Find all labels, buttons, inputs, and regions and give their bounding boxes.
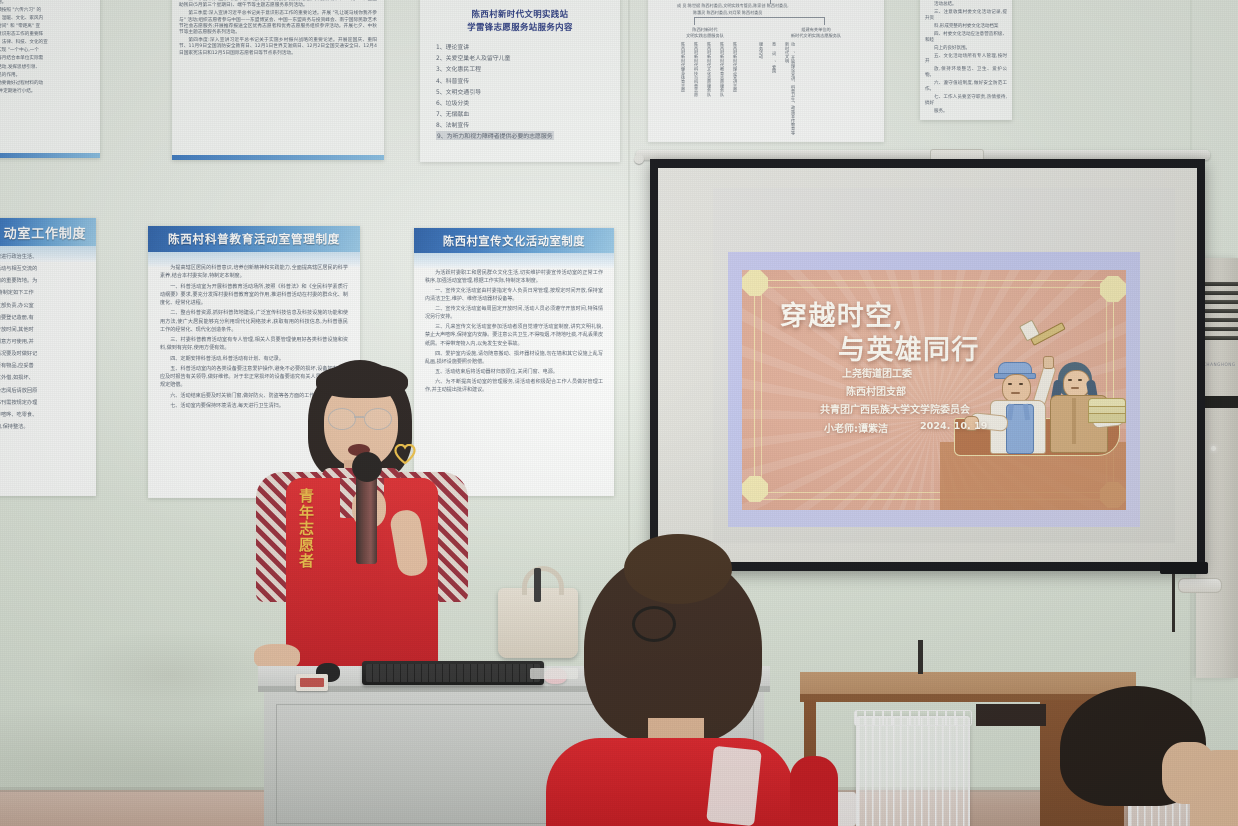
poster-line: 七、工作人员要坚守职责,热情接待,搞好 (925, 95, 1007, 107)
poster-regulations-right: 成 员:陈西村各委员活动总结。三、注意收集村委文化活动记录,提升资料,形成完整的… (920, 0, 1012, 120)
corner-ornament-tl (742, 270, 768, 296)
poster-paragraph: 二、整合科普资源,抓好科普阵地建设,广泛宣传科技信息及科技设施的功能和使用方法,… (160, 309, 348, 334)
poster-line: 须按照 "六传六习" 的 (0, 8, 94, 14)
poster-paragraph: 三、村委科普教育活动室有专人管理,相关人员要管理使用好各类科普设施和资料,做到有… (160, 336, 348, 353)
poster-line: 得随意外借,如损坏、 (0, 373, 89, 383)
table-pole (918, 640, 923, 674)
poster-line: 五、文化活动场所有专人管理,按时开 (925, 54, 1007, 66)
service-item: 6、垃圾分类 (436, 98, 620, 107)
service-item: 4、科普宣传 (436, 76, 620, 85)
org-column: 陈西村新时代科技与科普志愿 (693, 42, 699, 138)
ac-brand-label: CHANGHONG (1203, 362, 1236, 367)
org-branch-right-l2: 新时代文明实践志愿服务队 (772, 33, 860, 39)
screen-support-rod (1172, 574, 1175, 632)
wall-vent (1178, 578, 1222, 593)
hair-clip (632, 606, 676, 642)
vest-text: 青年志愿者 (296, 488, 317, 636)
poster-line: 向上的良好氛围。 (925, 46, 1007, 52)
poster-line: 每月结合本单位实际需 (0, 56, 94, 62)
poster-line: 德。 (0, 0, 94, 6)
org-connector (694, 17, 695, 25)
org-left-columns: 陈西村新时代健身体育志愿陈西村新时代科技与科普志愿陈西村新时代文化志愿服务队陈西… (680, 42, 738, 138)
audience-collar (706, 746, 762, 826)
poster-paragraph: 二、宣传文化活动室每周固定开放时间,活动人员必须遵守开放时间,特殊情况另行安排。 (425, 305, 603, 321)
service-item: 3、文化惠民工程 (436, 64, 620, 73)
corner-ornament-bl (742, 476, 768, 502)
poster-top-left-text: 德。须按照 "六传六习" 的、温暖、文化、家风内时间" 和 "零距离" 宣意识形… (0, 0, 100, 97)
illustration-woman (1050, 362, 1126, 458)
org-column: 服务活动 (758, 42, 764, 138)
cage-top-grid (854, 710, 972, 726)
service-item-highlighted: 9、为听力和视力障碍者提供必要的志愿服务 (436, 131, 554, 140)
org-right-columns: 服务活动育 词 、爱国动 、开展理论宣讲、科普卫生、政策宣传教育等新时代文明 (758, 42, 796, 138)
slide-subtitle-teacher: 小老师:谭紫洁 (824, 420, 888, 435)
poster-line: 备的所有物品,应妥善 (0, 361, 89, 371)
audience-hair-bun (624, 534, 732, 604)
poster-service-items: 1、理论宣讲2、关爱空巢老人及留守儿童3、文化惠民工程4、科普宣传5、文明交通引… (436, 42, 620, 140)
org-members-line1: 成 员:陈世斌 陈西村委员,文明实践专管员,陈家创 陈西村委员, (677, 3, 789, 9)
poster-line: 理打扫,保持整洁。 (0, 422, 89, 432)
poster-line: 民的作用。 (0, 73, 94, 79)
poster-paragraph: 三、凡来宣传文化活动室参加活动者须自觉遵守活动室制度,讲究文明礼貌,禁止大声喧哗… (425, 323, 603, 347)
card-packet[interactable] (296, 674, 328, 691)
service-item: 1、理论宣讲 (436, 42, 620, 51)
org-column: 陈西村新时代文化志愿服务队 (706, 42, 712, 138)
audience-arm-right (1190, 750, 1238, 826)
roller-knob (634, 154, 644, 164)
poster-line: 放,保持环境整洁、卫生、爱护公物。 (925, 67, 1007, 79)
heart-icon (394, 444, 414, 462)
poster-line: 六、遵守值班制度,做好安全防范工作。 (925, 81, 1007, 93)
glasses-lens-left (328, 408, 356, 430)
slide-subtitle-3: 共青团广西民族大学文学院委员会 (820, 401, 970, 416)
poster-line: 借用书刊需按规定办理 (0, 398, 89, 408)
poster-line: 管理,特制定如下工作 (0, 288, 89, 298)
book-bottom (1088, 413, 1126, 423)
poster-paragraph: 第二季度:深入宣讲习近平总书记关于学习党史的重要论述。开展清明节、"三月三"、全… (179, 0, 377, 9)
poster-line: 切设施要登记造册,有 (0, 313, 89, 323)
service-item: 9、为听力和视力障碍者提供必要的志愿服务 (436, 131, 620, 140)
poster-line: 活动,发挥思想引领、 (0, 65, 94, 71)
poster-work-system-text: 层组织进行政治生活、教育活动与相互交流的范作用的重要阵地。为管理,特制定如下工作… (0, 246, 96, 440)
keyboard[interactable] (362, 661, 544, 685)
presenter-bangs (316, 364, 408, 398)
glasses-bridge (354, 416, 364, 418)
poster-line: 使用情况要及时做好记 (0, 349, 89, 359)
poster-line: 禁大声喧哗、吃零食、 (0, 410, 89, 420)
poster-line: 教育活动与相互交流的 (0, 264, 89, 274)
poster-line: 范作用的重要阵地。为 (0, 276, 89, 286)
poster-paragraph: 一、科普活动室为开展科普教育活动场所,按照《科普法》和《全民科学素质行动纲要》要… (160, 283, 348, 308)
poster-line: 层组织进行政治生活、 (0, 252, 89, 262)
microphone[interactable] (356, 472, 377, 564)
photo-scene: 德。须按照 "六传六习" 的、温暖、文化、家风内时间" 和 "零距离" 宣意识形… (0, 0, 1238, 826)
poster-activity-room-work-system: 动室工作制度 层组织进行政治生活、教育活动与相互交流的范作用的重要阵地。为管理,… (0, 218, 96, 496)
org-connector (824, 17, 825, 25)
org-column: 育 词 、爱国 (771, 42, 777, 138)
service-item: 7、无偿献血 (436, 109, 620, 118)
org-column: 陈西村新时代教育志愿服务队 (719, 42, 725, 138)
corner-ornament-tr (1100, 276, 1126, 302)
poster-service-station: 陈西村新时代文明实践站 学雷锋志愿服务站服务内容 1、理论宣讲2、关爱空巢老人及… (420, 0, 620, 162)
poster-line: 四、村委文化活动应注意营造积极、和睦 (925, 32, 1007, 44)
poster-line: 三、注意收集村委文化活动记录,提升资 (925, 10, 1007, 22)
poster-line: 时间" 和 "零距离" 宣 (0, 24, 94, 30)
poster-line: 料,形成完整的村委文化活动档案 (925, 24, 1007, 30)
poster-title-text: 陈西村宣传文化活动室制度 (443, 233, 585, 249)
org-column: 陈西村新时代健身体育志愿 (680, 42, 686, 138)
presenter-speaker: 青年志愿者 (248, 360, 478, 690)
audience-shoulder-red (790, 756, 838, 826)
presentation-slide: 穿越时空, 与英雄同行 上尧街道团工委 陈西村团支部 共青团广西民族大学文学院委… (728, 252, 1140, 527)
org-column: 动 、开展理论宣讲、科普卫生、政策宣传教育等新时代文明 (784, 42, 796, 138)
poster-paragraph: 第三季度:深入宣讲习近平总书记关于意识形态工作的重要论述。开展 "礼让斑马线你我… (179, 11, 377, 36)
poster-paragraph: 第四季度:深入宣讲习近平总书记关于实施乡村振兴战略的重要论述。开展迎国庆、重阳节… (179, 38, 377, 57)
poster-footer-bar (172, 155, 384, 160)
poster-line: 固定开放时间,其他时 (0, 325, 89, 335)
poster-line: 、温暖、文化、家风内 (0, 16, 94, 22)
poster-line: 、法律、科技、文化的宣 (0, 40, 94, 46)
poster-line: 公室同意方可使用,并 (0, 337, 89, 347)
poster-line: ,并定期进行小结。 (0, 89, 94, 95)
org-branch-right: 组建有关单位的 新时代文明实践志愿服务队 (772, 27, 860, 40)
poster-line: 理由支部负责,办公室 (0, 301, 89, 311)
poster-title-text: 陈西村科普教育活动室管理制度 (168, 231, 340, 247)
water-bottle (836, 792, 856, 826)
org-members-line2: 陈惠灵 陈西村委员,刘月荣 陈西村委员 (693, 10, 762, 16)
microphone-head (352, 452, 382, 482)
table-shelf-shadow (976, 704, 1046, 726)
service-item: 5、文明交通引导 (436, 87, 620, 96)
org-column: 陈西村新时代理论宣讲志愿 (732, 42, 738, 138)
poster-quarterly-plan: 第二季度:深入宣讲习近平总书记关于学习党史的重要论述。开展清明节、"三月三"、全… (172, 0, 384, 160)
audience-front-woman (540, 552, 800, 826)
poster-paragraph: 一、宣传文化活动室由村委指定专人负责日常管理,按规定时间开放,保持室内清洁卫生,… (425, 287, 603, 303)
service-item: 8、法制宣传 (436, 120, 620, 129)
poster-title-line2: 学雷锋志愿服务站服务内容 (420, 21, 620, 34)
poster-quarterly-text: 第二季度:深入宣讲习近平总书记关于学习党史的重要论述。开展清明节、"三月三"、全… (172, 0, 384, 64)
poster-line: 动要做好过程材料的动 (0, 81, 94, 87)
poster-org-chart: 陈西村 陈西村副主任 成 员:陈世斌 陈西村委员,文明实践专管员,陈家创 陈西村… (648, 0, 884, 142)
poster-line: 服务。 (925, 109, 1007, 115)
poster-regulations-text: 成 员:陈西村各委员活动总结。三、注意收集村委文化活动记录,提升资料,形成完整的… (920, 0, 1012, 120)
poster-line: 报刊杂志阅后请放回原 (0, 386, 89, 396)
org-connector (694, 17, 824, 18)
poster-paragraph: 为活跃村委职工和居民群众文化生活,切实维护村委宣传活动室的正常工作秩序,加强活动… (425, 269, 603, 285)
white-wire-cage-left (856, 716, 970, 826)
glasses-lens-right (364, 408, 392, 430)
poster-line: 活动总结。 (925, 2, 1007, 8)
poster-title-line1: 陈西村新时代文明实践站 (420, 8, 620, 21)
slide-date: 2024. 10. 19 (920, 421, 987, 432)
wall-scuff (60, 630, 280, 720)
slide-title-line2: 与英雄同行 (838, 328, 980, 367)
poster-top-left: 德。须按照 "六传六习" 的、温暖、文化、家风内时间" 和 "零距离" 宣意识形… (0, 0, 100, 158)
worker-face (1002, 374, 1031, 403)
slide-content-area: 穿越时空, 与英雄同行 上尧街道团工委 陈西村团支部 共青团广西民族大学文学院委… (742, 270, 1126, 510)
poster-line: 意识形态工作的重要阵 (0, 32, 94, 38)
slide-subtitle-2: 陈西村团支部 (846, 383, 906, 398)
service-item: 2、关爱空巢老人及留守儿童 (436, 53, 620, 62)
poster-footer-bar (0, 153, 100, 158)
slide-subtitle-1: 上尧街道团工委 (842, 365, 912, 380)
poster-paragraph: 为提高辖区居民的科普意识,培养创新精神和实践能力,全面提高辖区居民的科学素养,结… (160, 264, 348, 281)
poster-title-text: 动室工作制度 (0, 223, 86, 242)
org-branch-left-l2: 文明实践志愿服务队 (670, 33, 740, 39)
ac-power-led (1211, 446, 1216, 451)
org-branch-left: 陈西村新时代 文明实践志愿服务队 (670, 27, 740, 40)
poster-line: 实现 "一个中心,一个 (0, 48, 94, 54)
screen-weight-bar (1160, 562, 1208, 574)
